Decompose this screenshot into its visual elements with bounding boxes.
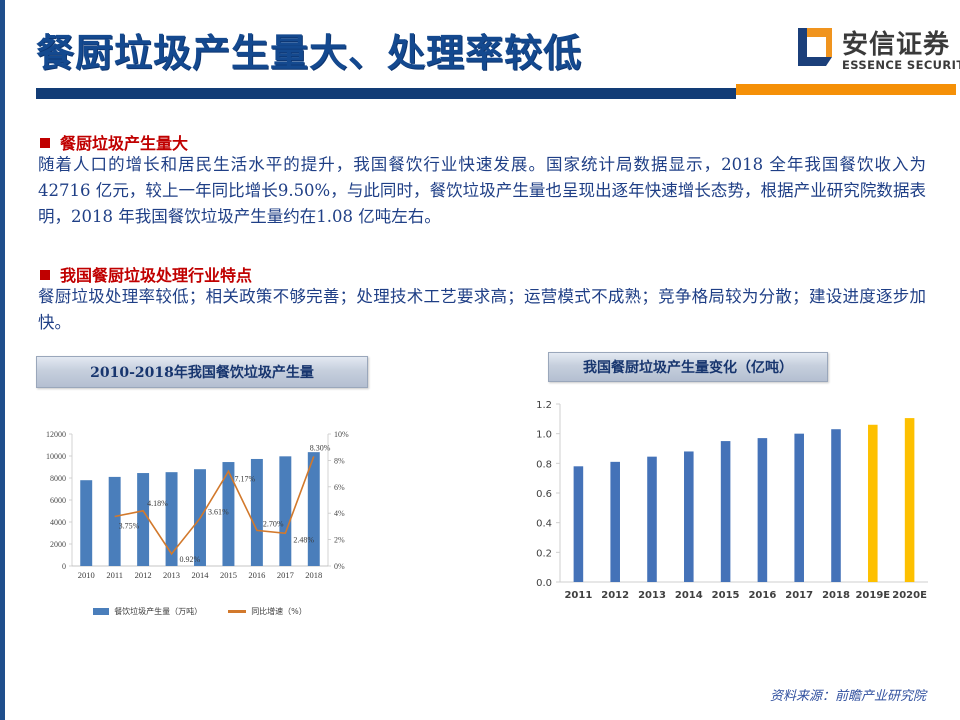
section1-heading: 餐厨垃圾产生量大 [40, 130, 188, 154]
svg-text:2016: 2016 [748, 590, 776, 601]
svg-text:2014: 2014 [192, 570, 210, 580]
svg-text:1.0: 1.0 [536, 430, 552, 441]
svg-text:3.75%: 3.75% [119, 522, 140, 531]
bullet-square-icon [40, 270, 50, 280]
chart-left-plot: 0200040006000800010000120000%2%4%6%8%10%… [30, 420, 370, 600]
svg-text:6000: 6000 [50, 496, 66, 505]
svg-text:2010: 2010 [78, 570, 95, 580]
section2-paragraph: 餐厨垃圾处理率较低；相关政策不够完善；处理技术工艺要求高；运营模式不成熟；竞争格… [38, 284, 926, 336]
page-title: 餐厨垃圾产生量大、处理率较低 [36, 22, 582, 77]
legend-item-line: 同比增速（%） [228, 606, 307, 617]
svg-text:7.17%: 7.17% [234, 474, 255, 483]
svg-text:2012: 2012 [601, 590, 629, 601]
bullet-square-icon [40, 138, 50, 148]
logo-name-en: ESSENCE SECURITIES [842, 58, 960, 72]
brand-logo: 安信证券 ESSENCE SECURITIES [786, 24, 956, 82]
svg-text:2.70%: 2.70% [263, 519, 284, 528]
svg-text:10%: 10% [334, 430, 349, 439]
chart-right: 0.00.20.40.60.81.01.22011201220132014201… [520, 396, 940, 611]
svg-text:2012: 2012 [135, 570, 152, 580]
section1-paragraph: 随着人口的增长和居民生活水平的提升，我国餐饮行业快速发展。国家统计局数据显示，2… [38, 152, 926, 230]
svg-text:0: 0 [62, 562, 66, 571]
source-note: 资料来源：前瞻产业研究院 [770, 685, 926, 704]
svg-text:2017: 2017 [277, 570, 294, 580]
svg-text:0.2: 0.2 [536, 548, 552, 559]
svg-text:2%: 2% [334, 536, 345, 545]
section1-heading-text: 餐厨垃圾产生量大 [60, 134, 188, 153]
svg-text:8%: 8% [334, 456, 345, 465]
section2-heading-text: 我国餐厨垃圾处理行业特点 [60, 266, 252, 285]
svg-text:6%: 6% [334, 483, 345, 492]
chart-right-title: 我国餐厨垃圾产生量变化（亿吨） [548, 352, 828, 382]
svg-text:4%: 4% [334, 509, 345, 518]
svg-text:8.30%: 8.30% [310, 443, 331, 452]
title-divider-orange [736, 84, 956, 95]
svg-text:3.61%: 3.61% [208, 507, 229, 516]
logo-mark-icon [786, 26, 834, 70]
legend-item-bars: 餐饮垃圾产生量（万吨） [93, 606, 202, 617]
svg-text:2014: 2014 [675, 590, 703, 601]
svg-text:10000: 10000 [46, 452, 66, 461]
svg-text:0.0: 0.0 [536, 578, 552, 589]
legend-label-line: 同比增速（%） [251, 606, 307, 617]
svg-text:0.4: 0.4 [536, 519, 552, 530]
chart-left: 0200040006000800010000120000%2%4%6%8%10%… [30, 420, 370, 630]
svg-text:2011: 2011 [106, 570, 123, 580]
svg-text:2019E: 2019E [855, 590, 890, 601]
svg-text:0.92%: 0.92% [180, 555, 201, 564]
svg-text:2013: 2013 [163, 570, 180, 580]
svg-text:8000: 8000 [50, 474, 66, 483]
svg-text:2013: 2013 [638, 590, 666, 601]
svg-text:1.2: 1.2 [536, 400, 552, 411]
svg-text:2000: 2000 [50, 540, 66, 549]
svg-text:2017: 2017 [785, 590, 813, 601]
svg-text:2018: 2018 [822, 590, 850, 601]
legend-swatch-line-icon [228, 610, 246, 613]
legend-label-bars: 餐饮垃圾产生量（万吨） [114, 606, 202, 617]
svg-text:2.48%: 2.48% [293, 535, 314, 544]
svg-text:4.18%: 4.18% [147, 499, 168, 508]
slide-canvas: 餐厨垃圾产生量大、处理率较低 安信证券 ESSENCE SECURITIES 餐… [0, 0, 960, 720]
legend-swatch-bar-icon [93, 608, 109, 615]
svg-text:2018: 2018 [305, 570, 322, 580]
svg-text:2015: 2015 [712, 590, 740, 601]
left-edge-stripe [0, 0, 5, 720]
title-divider-blue [36, 88, 736, 99]
svg-text:2020E: 2020E [892, 590, 927, 601]
svg-text:0%: 0% [334, 562, 345, 571]
svg-text:2016: 2016 [248, 570, 265, 580]
section2-heading: 我国餐厨垃圾处理行业特点 [40, 262, 252, 286]
svg-text:12000: 12000 [46, 430, 66, 439]
svg-text:4000: 4000 [50, 518, 66, 527]
svg-text:0.8: 0.8 [536, 459, 552, 470]
logo-name-cn: 安信证券 [842, 24, 950, 61]
chart-right-plot: 0.00.20.40.60.81.01.22011201220132014201… [520, 396, 940, 611]
svg-text:2015: 2015 [220, 570, 237, 580]
svg-text:0.6: 0.6 [536, 489, 552, 500]
chart-left-legend: 餐饮垃圾产生量（万吨） 同比增速（%） [30, 606, 370, 617]
svg-text:2011: 2011 [564, 590, 592, 601]
chart-left-title: 2010-2018年我国餐饮垃圾产生量 [36, 356, 368, 388]
